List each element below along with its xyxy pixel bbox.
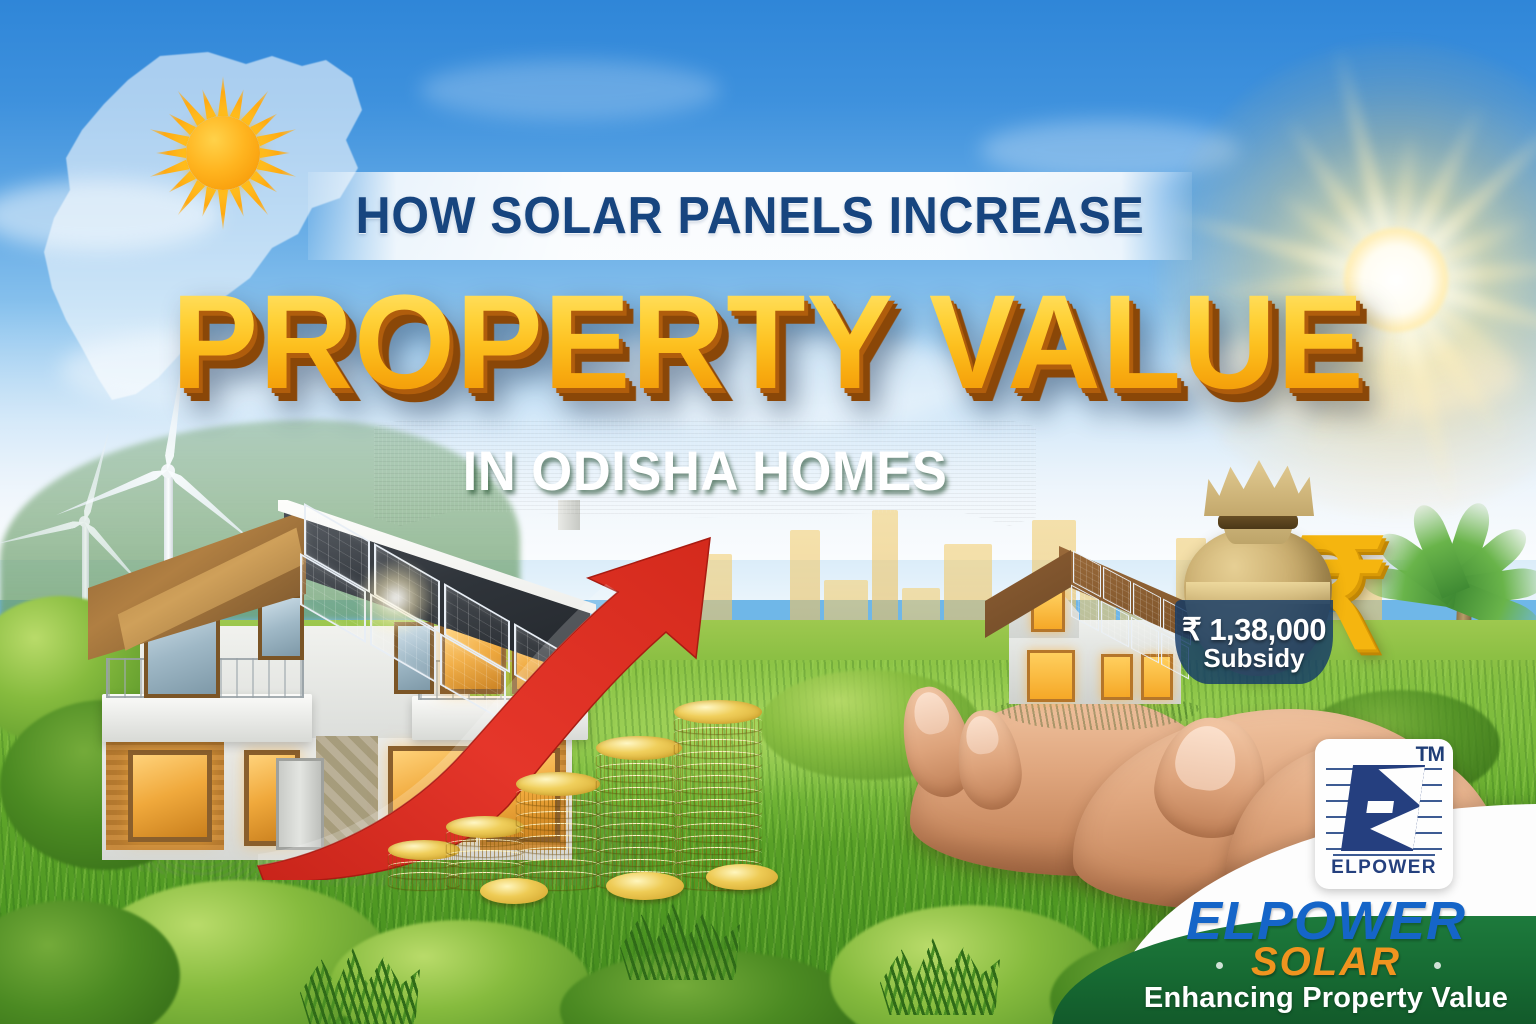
loose-coin	[706, 864, 778, 890]
ribbon-label: IN ODISHA HOMES	[394, 418, 1016, 526]
brand-product: SOLAR	[1108, 940, 1536, 985]
coin-stacks	[388, 660, 768, 890]
sun-ray	[230, 187, 249, 219]
logo-mark-word: ELPOWER	[1315, 857, 1453, 879]
sun-ray	[260, 148, 290, 158]
cloud	[420, 60, 720, 120]
brand-tagline: Enhancing Property Value	[1108, 982, 1536, 1015]
sun-ray	[198, 88, 217, 120]
sun-ray	[218, 190, 228, 230]
sun-glow-icon	[1288, 172, 1504, 388]
loose-coin	[606, 872, 684, 900]
subsidy-label: Subsidy	[1203, 645, 1304, 672]
green-ribbon-banner: IN ODISHA HOMES	[374, 418, 1036, 526]
subsidy-badge: ₹ 1,38,000 Subsidy	[1175, 600, 1333, 684]
logo-e-glyph	[1341, 765, 1425, 851]
sun-ray	[218, 76, 228, 116]
page-title: HOW SOLAR PANELS INCREASE	[356, 186, 1145, 246]
elpower-logo-mark[interactable]: TM ELPOWER	[1315, 739, 1453, 889]
sun-ray	[198, 187, 217, 219]
sun-ray	[230, 88, 249, 120]
sun-ray	[156, 148, 186, 158]
small-solar-house-icon	[985, 528, 1200, 718]
solar-property-value-banner: ₹ ₹ 1,38,000 Subsidy HOW SOLAR PANELS IN…	[0, 0, 1536, 1024]
loose-coin	[480, 878, 548, 904]
sun-icon	[148, 78, 298, 228]
headline-band: HOW SOLAR PANELS INCREASE	[308, 172, 1192, 260]
subsidy-amount: ₹ 1,38,000	[1182, 614, 1326, 646]
trademark-label: TM	[1416, 743, 1444, 767]
